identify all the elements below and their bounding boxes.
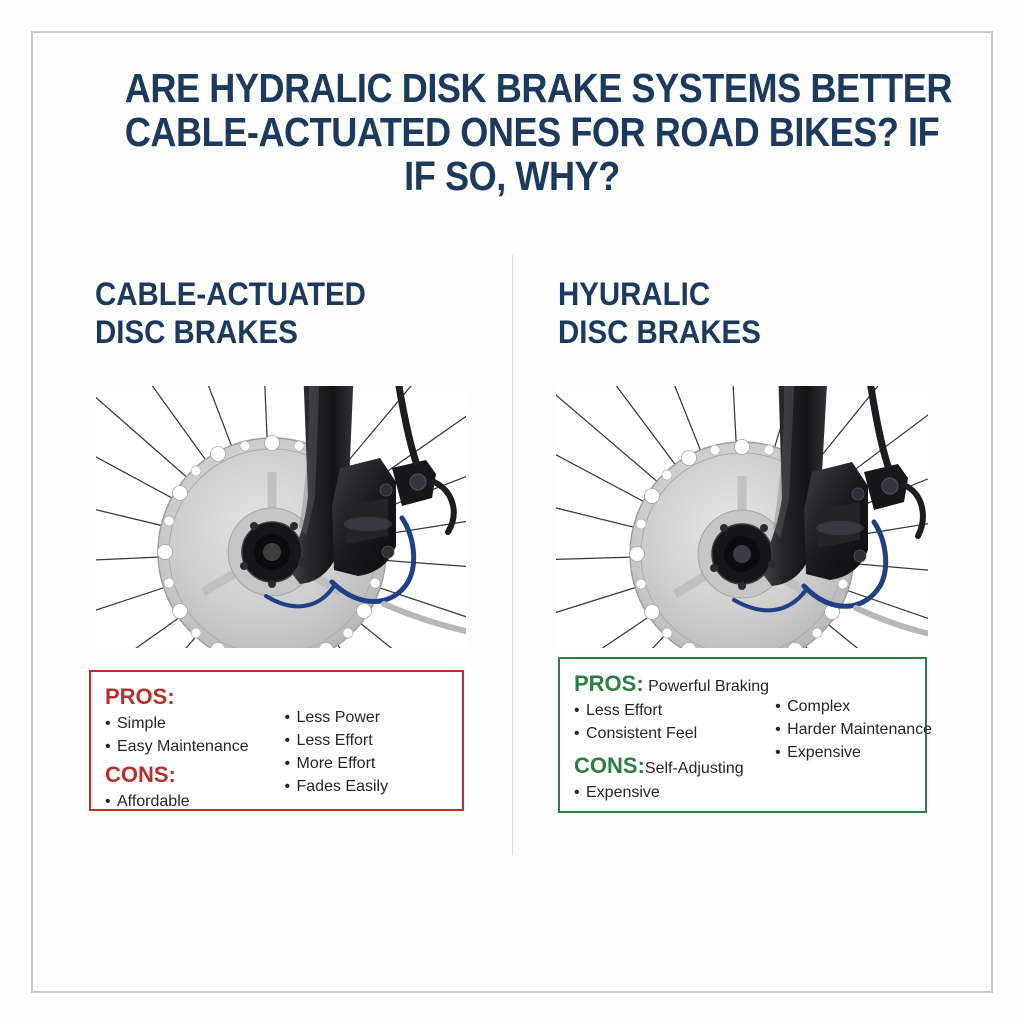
list-item: Easy Maintenance xyxy=(105,735,277,758)
disc-brake-illustration xyxy=(96,386,466,648)
title-line-2: CABLE-ACTUATED ONES FOR ROAD BIKES? IF xyxy=(125,110,899,154)
column-heading-hydraulic: HYURALIC DISC BRAKES xyxy=(558,275,978,351)
list-item: Less Power xyxy=(285,706,449,729)
title-line-1: ARE HYDRALIC DISK BRAKE SYSTEMS BETTER xyxy=(125,66,899,110)
list-item: Expensive xyxy=(574,781,769,804)
pros-cons-primary-column: PROS: Simple Easy Maintenance CONS: Affo… xyxy=(105,684,277,799)
list-item: More Effort xyxy=(285,752,449,775)
list-item: Fades Easily xyxy=(285,775,449,798)
list-item: Simple xyxy=(105,712,277,735)
cons-label: CONS: xyxy=(574,753,645,778)
list-item: Complex xyxy=(775,695,932,718)
cons-list: Expensive xyxy=(574,781,769,804)
secondary-list: Complex Harder Maintenance Expensive xyxy=(775,695,932,764)
disc-brake-illustration xyxy=(556,386,928,648)
pros-cons-primary-column: PROS: Powerful Braking Less Effort Consi… xyxy=(574,671,769,801)
list-item: Less Effort xyxy=(574,699,769,722)
list-item: Consistent Feel xyxy=(574,722,769,745)
cons-label: CONS: xyxy=(105,762,176,787)
pros-list: Simple Easy Maintenance xyxy=(105,712,277,758)
pros-cons-box-cable-actuated: PROS: Simple Easy Maintenance CONS: Affo… xyxy=(89,670,464,811)
infographic-canvas: ARE HYDRALIC DISK BRAKE SYSTEMS BETTER C… xyxy=(0,0,1024,1024)
column-heading-cable-actuated: CABLE-ACTUATED DISC BRAKES xyxy=(95,275,515,351)
pros-label: PROS: xyxy=(574,671,644,696)
pros-cons-box-hydraulic: PROS: Powerful Braking Less Effort Consi… xyxy=(558,657,927,813)
cons-inline-text: Self-Adjusting xyxy=(645,760,744,777)
cons-heading-row: CONS:Self-Adjusting xyxy=(574,753,769,780)
secondary-list: Less Power Less Effort More Effort Fades… xyxy=(285,706,449,798)
pros-cons-secondary-column: Complex Harder Maintenance Expensive xyxy=(769,671,932,801)
disc-brake-photo-left xyxy=(96,386,466,648)
cons-list: Affordable xyxy=(105,790,277,813)
column-heading-line-2: DISC BRAKES xyxy=(95,313,481,351)
list-item: Affordable xyxy=(105,790,277,813)
list-item: Harder Maintenance xyxy=(775,718,932,741)
list-item: Expensive xyxy=(775,741,932,764)
pros-cons-secondary-column: Less Power Less Effort More Effort Fades… xyxy=(277,684,449,799)
list-item: Less Effort xyxy=(285,729,449,752)
pros-label: PROS: xyxy=(105,684,175,709)
cons-heading-row: CONS: xyxy=(105,762,277,789)
title-line-3: IF SO, WHY? xyxy=(125,154,899,198)
pros-heading-row: PROS: xyxy=(105,684,277,711)
pros-heading-row: PROS: Powerful Braking xyxy=(574,671,769,698)
pros-list: Less Effort Consistent Feel xyxy=(574,699,769,745)
column-heading-line-1: CABLE-ACTUATED xyxy=(95,275,481,313)
pros-inline-text: Powerful Braking xyxy=(644,678,769,695)
column-heading-line-1: HYURALIC xyxy=(558,275,944,313)
disc-brake-photo-right xyxy=(556,386,928,648)
page-title: ARE HYDRALIC DISK BRAKE SYSTEMS BETTER C… xyxy=(72,66,952,198)
column-heading-line-2: DISC BRAKES xyxy=(558,313,944,351)
